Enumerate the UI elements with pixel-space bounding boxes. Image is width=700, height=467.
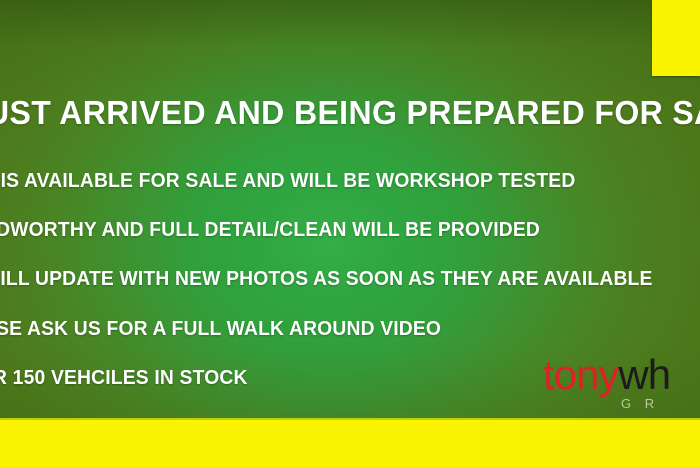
body-line-2: ADWORTHY AND FULL DETAIL/CLEAN WILL BE P…: [0, 219, 540, 241]
promo-banner: UST ARRIVED AND BEING PREPARED FOR SA S …: [0, 0, 700, 467]
body-line-4: ASE ASK US FOR A FULL WALK AROUND VIDEO: [0, 318, 441, 340]
logo-wordmark: tonywh: [543, 352, 670, 398]
logo-wordmark-white: wh: [618, 352, 670, 398]
dealer-logo: tonywh G R: [543, 352, 700, 418]
logo-tagline: G R: [621, 396, 659, 411]
body-line-5: ER 150 VEHCILES IN STOCK: [0, 367, 248, 389]
yellow-footer-bar: [0, 420, 700, 467]
yellow-accent-rectangle: [652, 0, 700, 76]
body-line-3: WILL UPDATE WITH NEW PHOTOS AS SOON AS T…: [0, 268, 653, 290]
logo-wordmark-tony: tony: [543, 352, 618, 398]
body-line-1: S IS AVAILABLE FOR SALE AND WILL BE WORK…: [0, 170, 575, 192]
headline-text: UST ARRIVED AND BEING PREPARED FOR SA: [0, 96, 700, 130]
